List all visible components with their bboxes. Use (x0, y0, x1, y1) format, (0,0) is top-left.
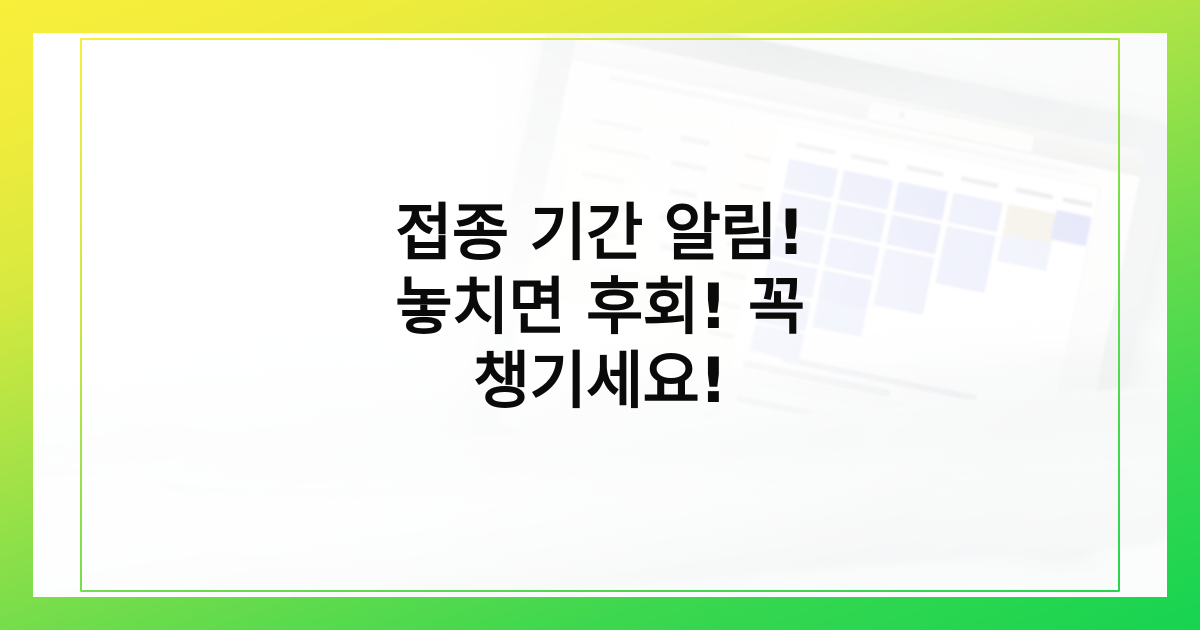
headline: 접종 기간 알림! 놓치면 후회! 꼭 챙기세요! (0, 196, 1200, 418)
headline-line-2: 놓치면 후회! 꼭 (0, 270, 1200, 344)
promo-card: 접종 기간 알림! 놓치면 후회! 꼭 챙기세요! (0, 0, 1200, 630)
headline-line-1: 접종 기간 알림! (0, 196, 1200, 270)
headline-line-3: 챙기세요! (0, 344, 1200, 418)
